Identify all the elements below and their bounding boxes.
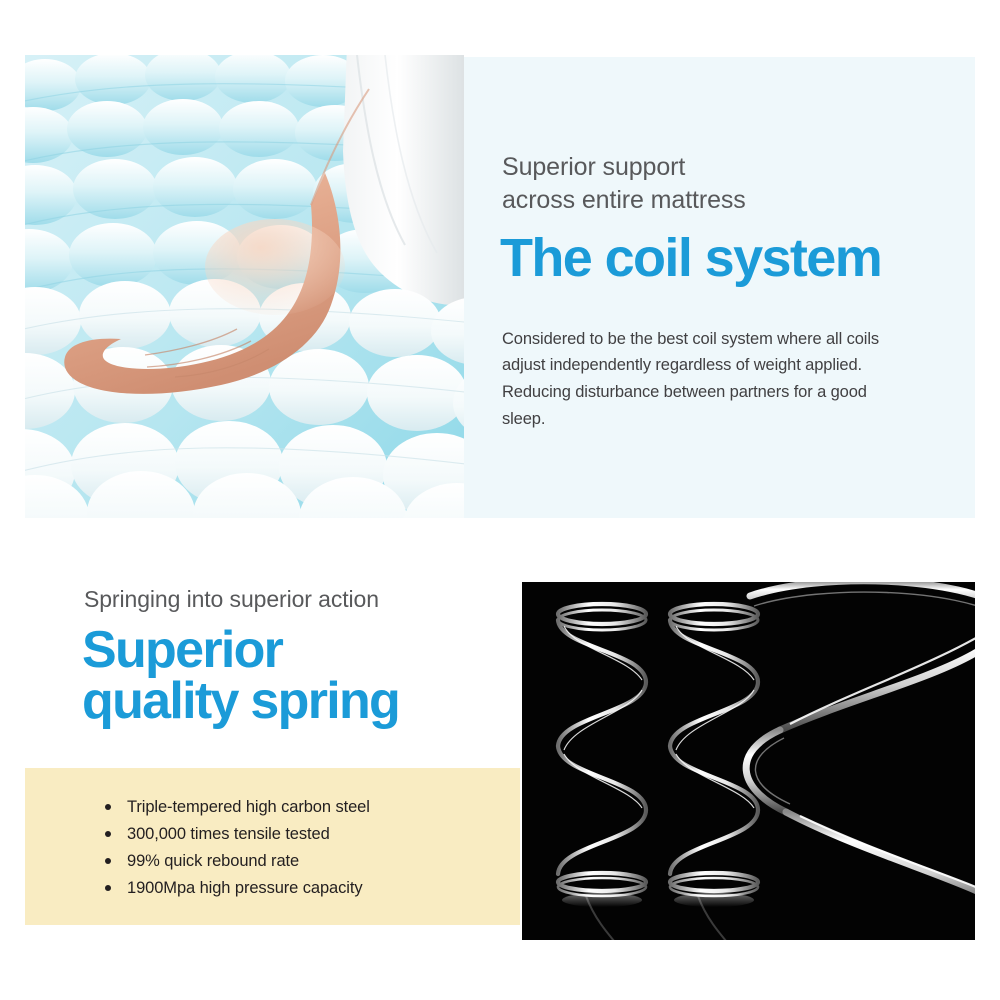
coil-system-headline: The coil system (500, 231, 881, 285)
coil-system-eyebrow: Superior support across entire mattress (502, 151, 942, 217)
list-item: 1900Mpa high pressure capacity (103, 875, 370, 902)
coil-system-body-copy: Considered to be the best coil system wh… (502, 326, 894, 433)
spring-features-list: Triple-tempered high carbon steel 300,00… (103, 794, 370, 902)
coil-system-text-panel: Superior support across entire mattress … (464, 57, 975, 518)
spring-features-panel: Triple-tempered high carbon steel 300,00… (25, 768, 520, 925)
coil-spring-photo (522, 582, 975, 940)
quality-spring-headline: Superior quality spring (82, 625, 399, 727)
mattress-coil-photo (25, 55, 464, 518)
list-item: 99% quick rebound rate (103, 848, 370, 875)
quality-spring-eyebrow: Springing into superior action (84, 586, 379, 613)
product-feature-page: Superior support across entire mattress … (0, 0, 1000, 1000)
list-item: 300,000 times tensile tested (103, 821, 370, 848)
list-item: Triple-tempered high carbon steel (103, 794, 370, 821)
